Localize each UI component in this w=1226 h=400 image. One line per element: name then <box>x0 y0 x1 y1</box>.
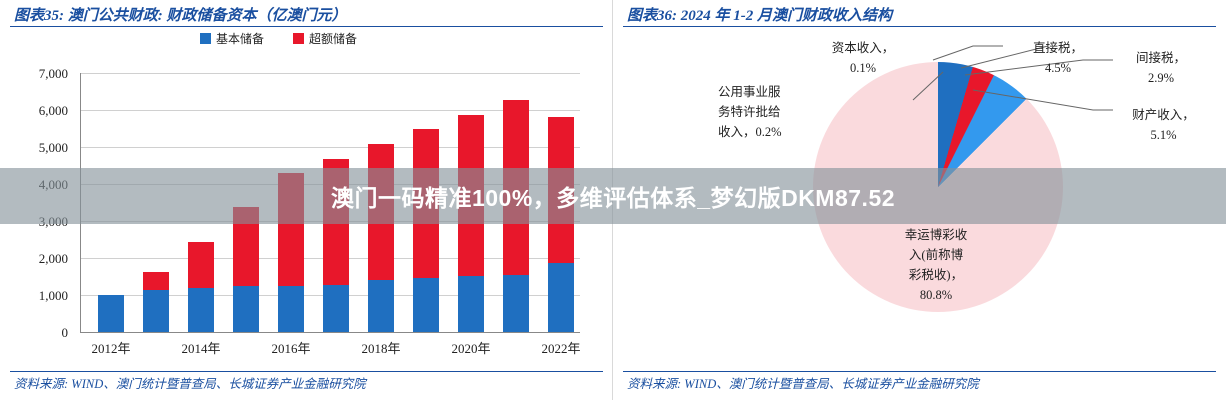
pie-label-utility-concession-l2: 务特许批给 <box>718 102 782 122</box>
ytick-7000: 7,000 <box>14 66 68 82</box>
pie-label-gaming-tax-l3: 彩税收)， <box>871 265 1001 285</box>
pie-label-indirect-tax-l2: 2.9% <box>1111 68 1211 88</box>
pie-label-utility-concession-l1: 公用事业服 <box>718 82 782 102</box>
pie-label-property-income: 财产收入， 5.1% <box>1111 105 1216 145</box>
xtick-2012: 2012年 <box>76 338 146 357</box>
bar-basic-2012 <box>98 295 124 332</box>
watermark-text: 澳门一码精准100%，多维评估体系_梦幻版DKM87.52 <box>0 168 1226 224</box>
xtick-2014: 2014年 <box>166 338 236 357</box>
bar-basic-2013 <box>143 290 169 332</box>
bar-excess-2013 <box>143 272 169 290</box>
bar-basic-2018 <box>368 280 394 332</box>
pie-label-gaming-tax-l4: 80.8% <box>871 285 1001 305</box>
pie-label-capital-income-l2: 0.1% <box>803 58 923 78</box>
right-source-note: 资料来源: WIND、澳门统计暨普查局、长城证券产业金融研究院 <box>627 373 979 392</box>
pie-label-utility-concession: 公用事业服 务特许批给 收入，0.2% <box>718 82 782 142</box>
right-chart-title: 图表36: 2024 年 1-2 月澳门财政收入结构 <box>627 4 1216 25</box>
pie-label-indirect-tax-l1: 间接税， <box>1111 48 1211 68</box>
xtick-2020: 2020年 <box>436 338 506 357</box>
pie-label-gaming-tax: 幸运博彩收 入(前称博 彩税收)， 80.8% <box>871 225 1001 305</box>
bar-basic-2014 <box>188 288 214 332</box>
bar-basic-2021 <box>503 275 529 332</box>
ytick-2000: 2,000 <box>14 251 68 267</box>
pie-label-direct-tax-l1: 直接税， <box>1003 38 1113 58</box>
pie-label-utility-concession-l3: 收入，0.2% <box>718 122 782 142</box>
pie-label-gaming-tax-l1: 幸运博彩收 <box>871 225 1001 245</box>
pie-label-property-income-l1: 财产收入， <box>1111 105 1216 125</box>
x-axis-line <box>80 332 580 333</box>
pie-label-capital-income: 资本收入， 0.1% <box>803 38 923 78</box>
pie-label-direct-tax-l2: 4.5% <box>1003 58 1113 78</box>
bar-basic-2022 <box>548 263 574 332</box>
right-source-rule <box>623 371 1216 372</box>
xtick-2016: 2016年 <box>256 338 326 357</box>
bar-excess-2014 <box>188 242 214 288</box>
left-source-rule <box>10 371 603 372</box>
left-chart-title: 图表35: 澳门公共财政: 财政储备资本（亿澳门元） <box>14 4 603 25</box>
pie-label-capital-income-l1: 资本收入， <box>803 38 923 58</box>
bar-basic-2016 <box>278 286 304 332</box>
ytick-5000: 5,000 <box>14 140 68 156</box>
bar-basic-2015 <box>233 286 259 332</box>
pie-label-direct-tax: 直接税， 4.5% <box>1003 38 1113 78</box>
right-title-rule <box>623 26 1216 27</box>
left-source-note: 资料来源: WIND、澳门统计暨普查局、长城证券产业金融研究院 <box>14 373 366 392</box>
xtick-2018: 2018年 <box>346 338 416 357</box>
pie-label-indirect-tax: 间接税， 2.9% <box>1111 48 1211 88</box>
bar-basic-2017 <box>323 285 349 332</box>
bar-basic-2019 <box>413 278 439 332</box>
pie-label-property-income-l2: 5.1% <box>1111 125 1216 145</box>
xtick-2022: 2022年 <box>526 338 596 357</box>
ytick-0: 0 <box>14 325 68 341</box>
ytick-1000: 1,000 <box>14 288 68 304</box>
bar-basic-2020 <box>458 276 484 332</box>
pie-label-gaming-tax-l2: 入(前称博 <box>871 245 1001 265</box>
ytick-6000: 6,000 <box>14 103 68 119</box>
left-title-rule <box>10 26 603 27</box>
